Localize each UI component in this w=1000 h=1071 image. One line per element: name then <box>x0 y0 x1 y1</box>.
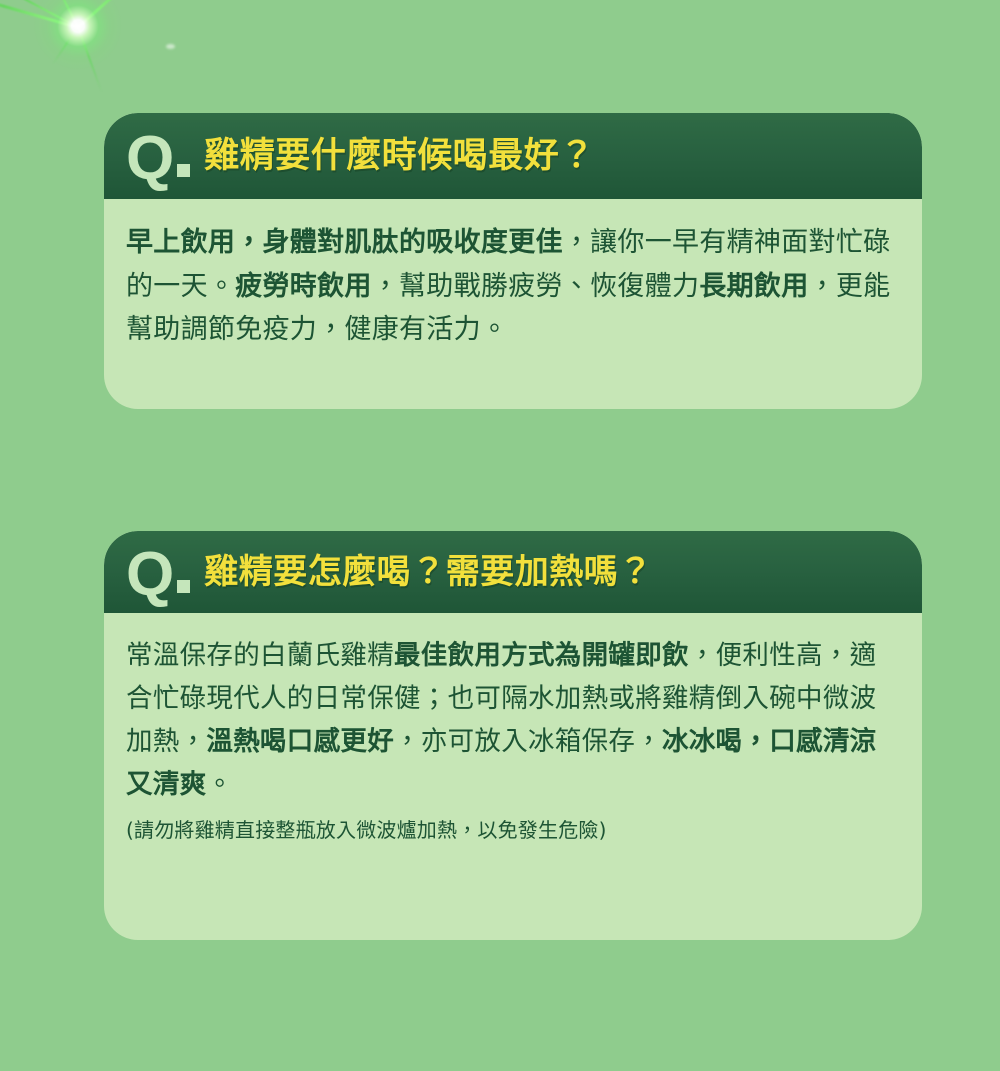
faq-answer-text: 常溫保存的白蘭氏雞精最佳飲用方式為開罐即飲，便利性高，適合忙碌現代人的日常保健；… <box>126 635 896 807</box>
q-letter: Q <box>126 544 172 606</box>
light-ray-icon <box>77 0 198 28</box>
faq-answer-text: 早上飲用，身體對肌肽的吸收度更佳，讓你一早有精神面對忙碌的一天。疲勞時飲用，幫助… <box>126 221 896 352</box>
faq-card: Q 雞精要什麼時候喝最好？ 早上飲用，身體對肌肽的吸收度更佳，讓你一早有精神面對… <box>104 113 922 409</box>
q-dot-icon <box>177 164 190 177</box>
faq-card-header: Q 雞精要什麼時候喝最好？ <box>104 113 922 199</box>
faq-card: Q 雞精要怎麼喝？需要加熱嗎？ 常溫保存的白蘭氏雞精最佳飲用方式為開罐即飲，便利… <box>104 531 922 940</box>
question-mark-badge: Q <box>126 128 190 190</box>
faq-card-header: Q 雞精要怎麼喝？需要加熱嗎？ <box>104 531 922 613</box>
light-ray-icon <box>52 26 79 65</box>
faq-question-title: 雞精要怎麼喝？需要加熱嗎？ <box>204 555 653 589</box>
faq-question-title: 雞精要什麼時候喝最好？ <box>204 139 595 174</box>
light-ray-icon <box>0 0 78 29</box>
faq-answer-note: (請勿將雞精直接整瓶放入微波爐加熱，以免發生危險) <box>126 815 896 845</box>
faq-card-body: 常溫保存的白蘭氏雞精最佳飲用方式為開罐即飲，便利性高，適合忙碌現代人的日常保健；… <box>104 613 922 865</box>
question-mark-badge: Q <box>126 544 190 606</box>
q-dot-icon <box>177 580 190 593</box>
sparkle-icon <box>166 44 175 49</box>
light-ray-icon <box>77 27 103 93</box>
light-ray-icon <box>0 0 79 28</box>
light-burst-core-icon <box>33 0 123 71</box>
q-letter: Q <box>126 128 172 190</box>
light-ray-icon <box>23 0 79 28</box>
faq-card-body: 早上飲用，身體對肌肽的吸收度更佳，讓你一早有精神面對忙碌的一天。疲勞時飲用，幫助… <box>104 199 922 372</box>
